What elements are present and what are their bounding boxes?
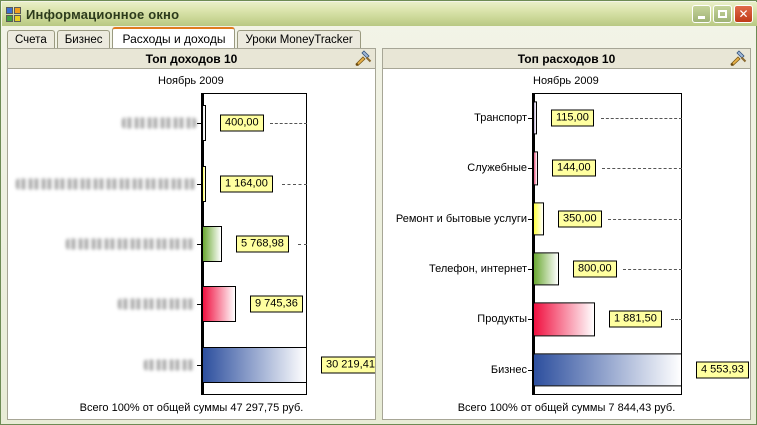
chart-bar-row: 1 164,00 xyxy=(8,153,375,213)
close-icon: ✕ xyxy=(738,9,748,19)
chart-bar-row: Транспорт115,00 xyxy=(383,93,750,143)
axis-tick xyxy=(197,304,201,305)
chart-bar[interactable] xyxy=(202,166,206,202)
chart-bar-row: 30 219,41 xyxy=(8,335,375,395)
panel-income-body: Ноябрь 2009 400,001 164,005 768,989 745,… xyxy=(8,69,375,397)
tab-accounts[interactable]: Счета xyxy=(7,30,55,49)
value-label: 30 219,41 xyxy=(321,356,375,373)
chart-bar-row: 9 745,36 xyxy=(8,274,375,334)
chart-bar-row: 5 768,98 xyxy=(8,214,375,274)
leader-line xyxy=(601,118,682,119)
chart-expense-subtitle: Ноябрь 2009 xyxy=(383,75,750,87)
leader-line xyxy=(671,319,682,320)
category-label-redacted xyxy=(122,118,196,129)
category-label-redacted xyxy=(118,299,196,310)
maximize-icon xyxy=(718,10,727,18)
value-label: 350,00 xyxy=(558,210,602,227)
information-window: Информационное окно ✕ Счета Бизнес Расхо… xyxy=(0,0,757,425)
panel-income-header: Топ доходов 10 xyxy=(8,49,375,69)
tools-hammer-wrench-icon[interactable] xyxy=(729,50,747,66)
value-label: 115,00 xyxy=(551,110,594,127)
minimize-button[interactable] xyxy=(692,5,711,23)
value-label: 400,00 xyxy=(220,115,264,132)
close-button[interactable]: ✕ xyxy=(734,5,753,23)
panel-top-income: Топ доходов 10 Ноябрь 2009 400,001 164,0… xyxy=(7,48,376,420)
window-title: Информационное окно xyxy=(26,7,179,22)
window-controls: ✕ xyxy=(692,5,753,23)
leader-line xyxy=(298,244,307,245)
value-label: 9 745,36 xyxy=(250,296,303,313)
chart-bar[interactable] xyxy=(533,253,559,286)
chart-bar-row: Служебные144,00 xyxy=(383,143,750,193)
chart-bar-row: 400,00 xyxy=(8,93,375,153)
chart-bar[interactable] xyxy=(533,303,595,336)
tab-strip: Счета Бизнес Расходы и доходы Уроки Mone… xyxy=(2,27,757,49)
category-label: Телефон, интернет xyxy=(429,263,527,275)
category-label: Продукты xyxy=(477,313,527,325)
chart-bar[interactable] xyxy=(202,347,307,383)
axis-tick xyxy=(528,219,532,220)
category-label: Ремонт и бытовые услуги xyxy=(396,213,527,225)
leader-line xyxy=(608,219,682,220)
leader-line xyxy=(270,123,307,124)
chart-income-total: Всего 100% от общей суммы 47 297,75 руб. xyxy=(8,397,375,419)
app-grid-icon xyxy=(6,7,21,22)
chart-expense-plot: Транспорт115,00Служебные144,00Ремонт и б… xyxy=(383,93,750,395)
leader-line xyxy=(282,184,307,185)
chart-bar[interactable] xyxy=(202,286,236,322)
category-label-redacted xyxy=(66,238,196,249)
value-label: 1 164,00 xyxy=(220,175,273,192)
tab-expenses-and-income[interactable]: Расходы и доходы xyxy=(112,27,235,49)
category-label: Служебные xyxy=(467,162,527,174)
panel-income-title: Топ доходов 10 xyxy=(146,52,238,66)
chart-bar[interactable] xyxy=(533,353,682,386)
tab-business[interactable]: Бизнес xyxy=(57,30,111,49)
category-label: Бизнес xyxy=(491,364,527,376)
chart-income-subtitle: Ноябрь 2009 xyxy=(8,75,375,87)
axis-tick xyxy=(528,319,532,320)
chart-bar-row: Ремонт и бытовые услуги350,00 xyxy=(383,194,750,244)
value-label: 1 881,50 xyxy=(609,311,662,328)
chart-bar[interactable] xyxy=(533,152,538,185)
panel-top-expense: Топ расходов 10 Ноябрь 2009 Транспорт115… xyxy=(382,48,751,420)
chart-bar[interactable] xyxy=(202,105,206,141)
category-label-redacted xyxy=(144,359,196,370)
chart-bar[interactable] xyxy=(533,102,537,135)
title-bar: Информационное окно ✕ xyxy=(2,2,757,26)
chart-bar-row: Телефон, интернет800,00 xyxy=(383,244,750,294)
panel-expense-body: Ноябрь 2009 Транспорт115,00Служебные144,… xyxy=(383,69,750,397)
charts-container: Топ доходов 10 Ноябрь 2009 400,001 164,0… xyxy=(7,48,752,420)
tab-moneytracker-lessons[interactable]: Уроки MoneyTracker xyxy=(237,30,360,49)
category-label: Транспорт xyxy=(474,112,527,124)
tools-hammer-wrench-icon[interactable] xyxy=(354,50,372,66)
axis-tick xyxy=(197,184,201,185)
minimize-icon xyxy=(698,16,705,19)
maximize-button[interactable] xyxy=(713,5,732,23)
panel-expense-header: Топ расходов 10 xyxy=(383,49,750,69)
axis-tick xyxy=(528,168,532,169)
chart-bar[interactable] xyxy=(202,226,222,262)
value-label: 4 553,93 xyxy=(696,361,749,378)
chart-expense-total: Всего 100% от общей суммы 7 844,43 руб. xyxy=(383,397,750,419)
chart-bar-row: Бизнес4 553,93 xyxy=(383,345,750,395)
axis-tick xyxy=(197,244,201,245)
panel-expense-title: Топ расходов 10 xyxy=(518,52,616,66)
category-label-redacted xyxy=(16,178,196,189)
value-label: 800,00 xyxy=(573,261,617,278)
axis-tick xyxy=(197,123,201,124)
value-label: 5 768,98 xyxy=(236,235,289,252)
value-label: 144,00 xyxy=(552,160,596,177)
chart-bar-row: Продукты1 881,50 xyxy=(383,294,750,344)
axis-tick xyxy=(528,269,532,270)
leader-line xyxy=(602,168,682,169)
axis-tick xyxy=(197,365,201,366)
leader-line xyxy=(623,269,682,270)
axis-tick xyxy=(528,370,532,371)
chart-bar[interactable] xyxy=(533,202,544,235)
chart-income-plot: 400,001 164,005 768,989 745,3630 219,41 xyxy=(8,93,375,395)
axis-tick xyxy=(528,118,532,119)
